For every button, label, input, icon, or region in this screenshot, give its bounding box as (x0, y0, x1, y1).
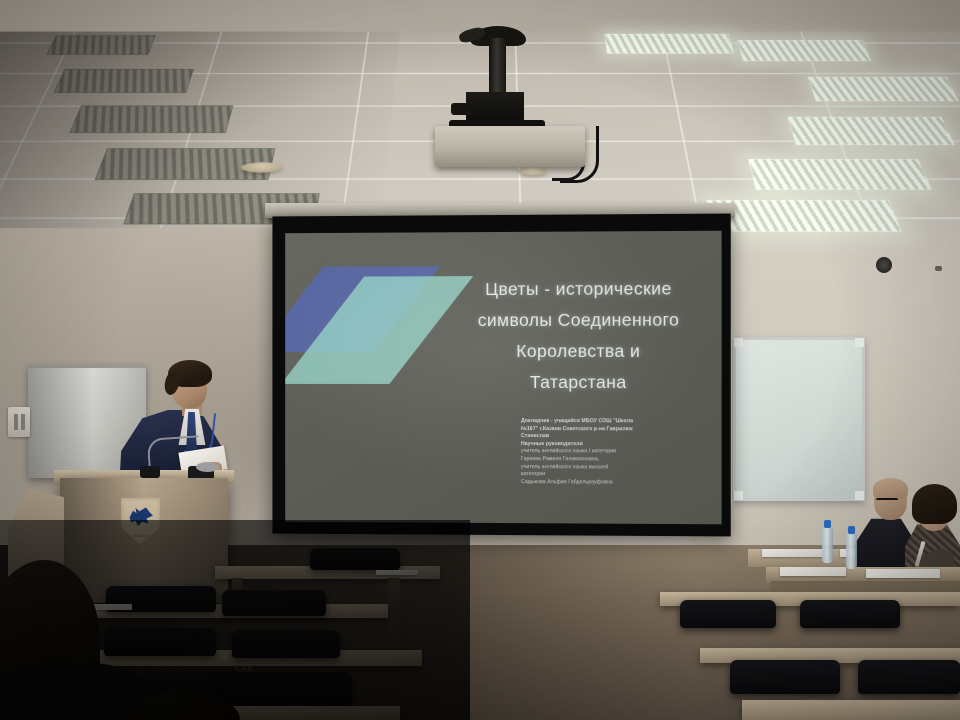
ceiling-light-panel (605, 34, 735, 54)
chair (222, 590, 326, 616)
ceiling-light-panel (706, 200, 901, 232)
slide-subtitle-line: Докладчик - учащийся МБОУ СОШ "Школа (521, 418, 722, 426)
paper-sheet (762, 549, 824, 557)
presentation-slide: Цветы - исторические символы Соединенног… (285, 231, 721, 525)
crest-label: КАЗАНЬ (124, 534, 157, 538)
paper-sheet (376, 570, 418, 575)
chair (730, 660, 840, 694)
lecture-room-photo: Цветы - исторические символы Соединенног… (0, 0, 960, 720)
slide-title-line: Королевства и (433, 336, 721, 367)
water-bottle (822, 527, 833, 563)
ceiling-light-panel (787, 117, 954, 145)
judges-desk-apron (770, 581, 960, 591)
microphone-puck (196, 462, 219, 472)
ceiling-light-panel (808, 77, 959, 101)
projector-mount-pipe (489, 38, 506, 98)
chair (680, 600, 776, 628)
whiteboard-right (733, 337, 865, 501)
glasses-icon (876, 498, 898, 506)
slide-subtitle-line: Садыкова Альфия Габдельрауфовна (521, 479, 722, 487)
slide-title-line: Татарстана (433, 367, 721, 398)
slide-title-line: символы Соединенного (433, 304, 721, 336)
projector-lens-icon (876, 257, 892, 273)
ceiling-light-panel (748, 159, 931, 190)
smoke-detector-icon (518, 167, 547, 175)
projector-vent (935, 266, 942, 271)
ceiling-light-panel (737, 40, 871, 61)
slide-subtitle-line: №167" г.Казани Советского р-на Гаврилюк (521, 426, 722, 434)
projection-screen: Цветы - исторические символы Соединенног… (272, 214, 730, 537)
projector-bracket-arm (451, 103, 473, 115)
slide-subtitle: Докладчик - учащийся МБОУ СОШ "Школа №16… (521, 418, 722, 487)
chair (858, 660, 960, 694)
chair (310, 548, 400, 570)
chair (232, 630, 340, 658)
judge-1-hair (873, 478, 908, 500)
paper-sheet (866, 569, 940, 578)
chair (222, 672, 352, 708)
paper-sheet (780, 567, 846, 576)
chair-graffiti: CAK (235, 664, 254, 674)
desk (742, 700, 960, 720)
microphone-base (140, 466, 160, 478)
slide-title-line: Цветы - исторические (433, 273, 721, 305)
slide-title: Цветы - исторические символы Соединенног… (433, 273, 721, 398)
light-switch[interactable] (8, 407, 30, 437)
chair (104, 628, 216, 656)
chair (800, 600, 900, 628)
water-bottle (846, 533, 857, 569)
projector (435, 126, 585, 167)
judge-2-hair (912, 484, 957, 524)
